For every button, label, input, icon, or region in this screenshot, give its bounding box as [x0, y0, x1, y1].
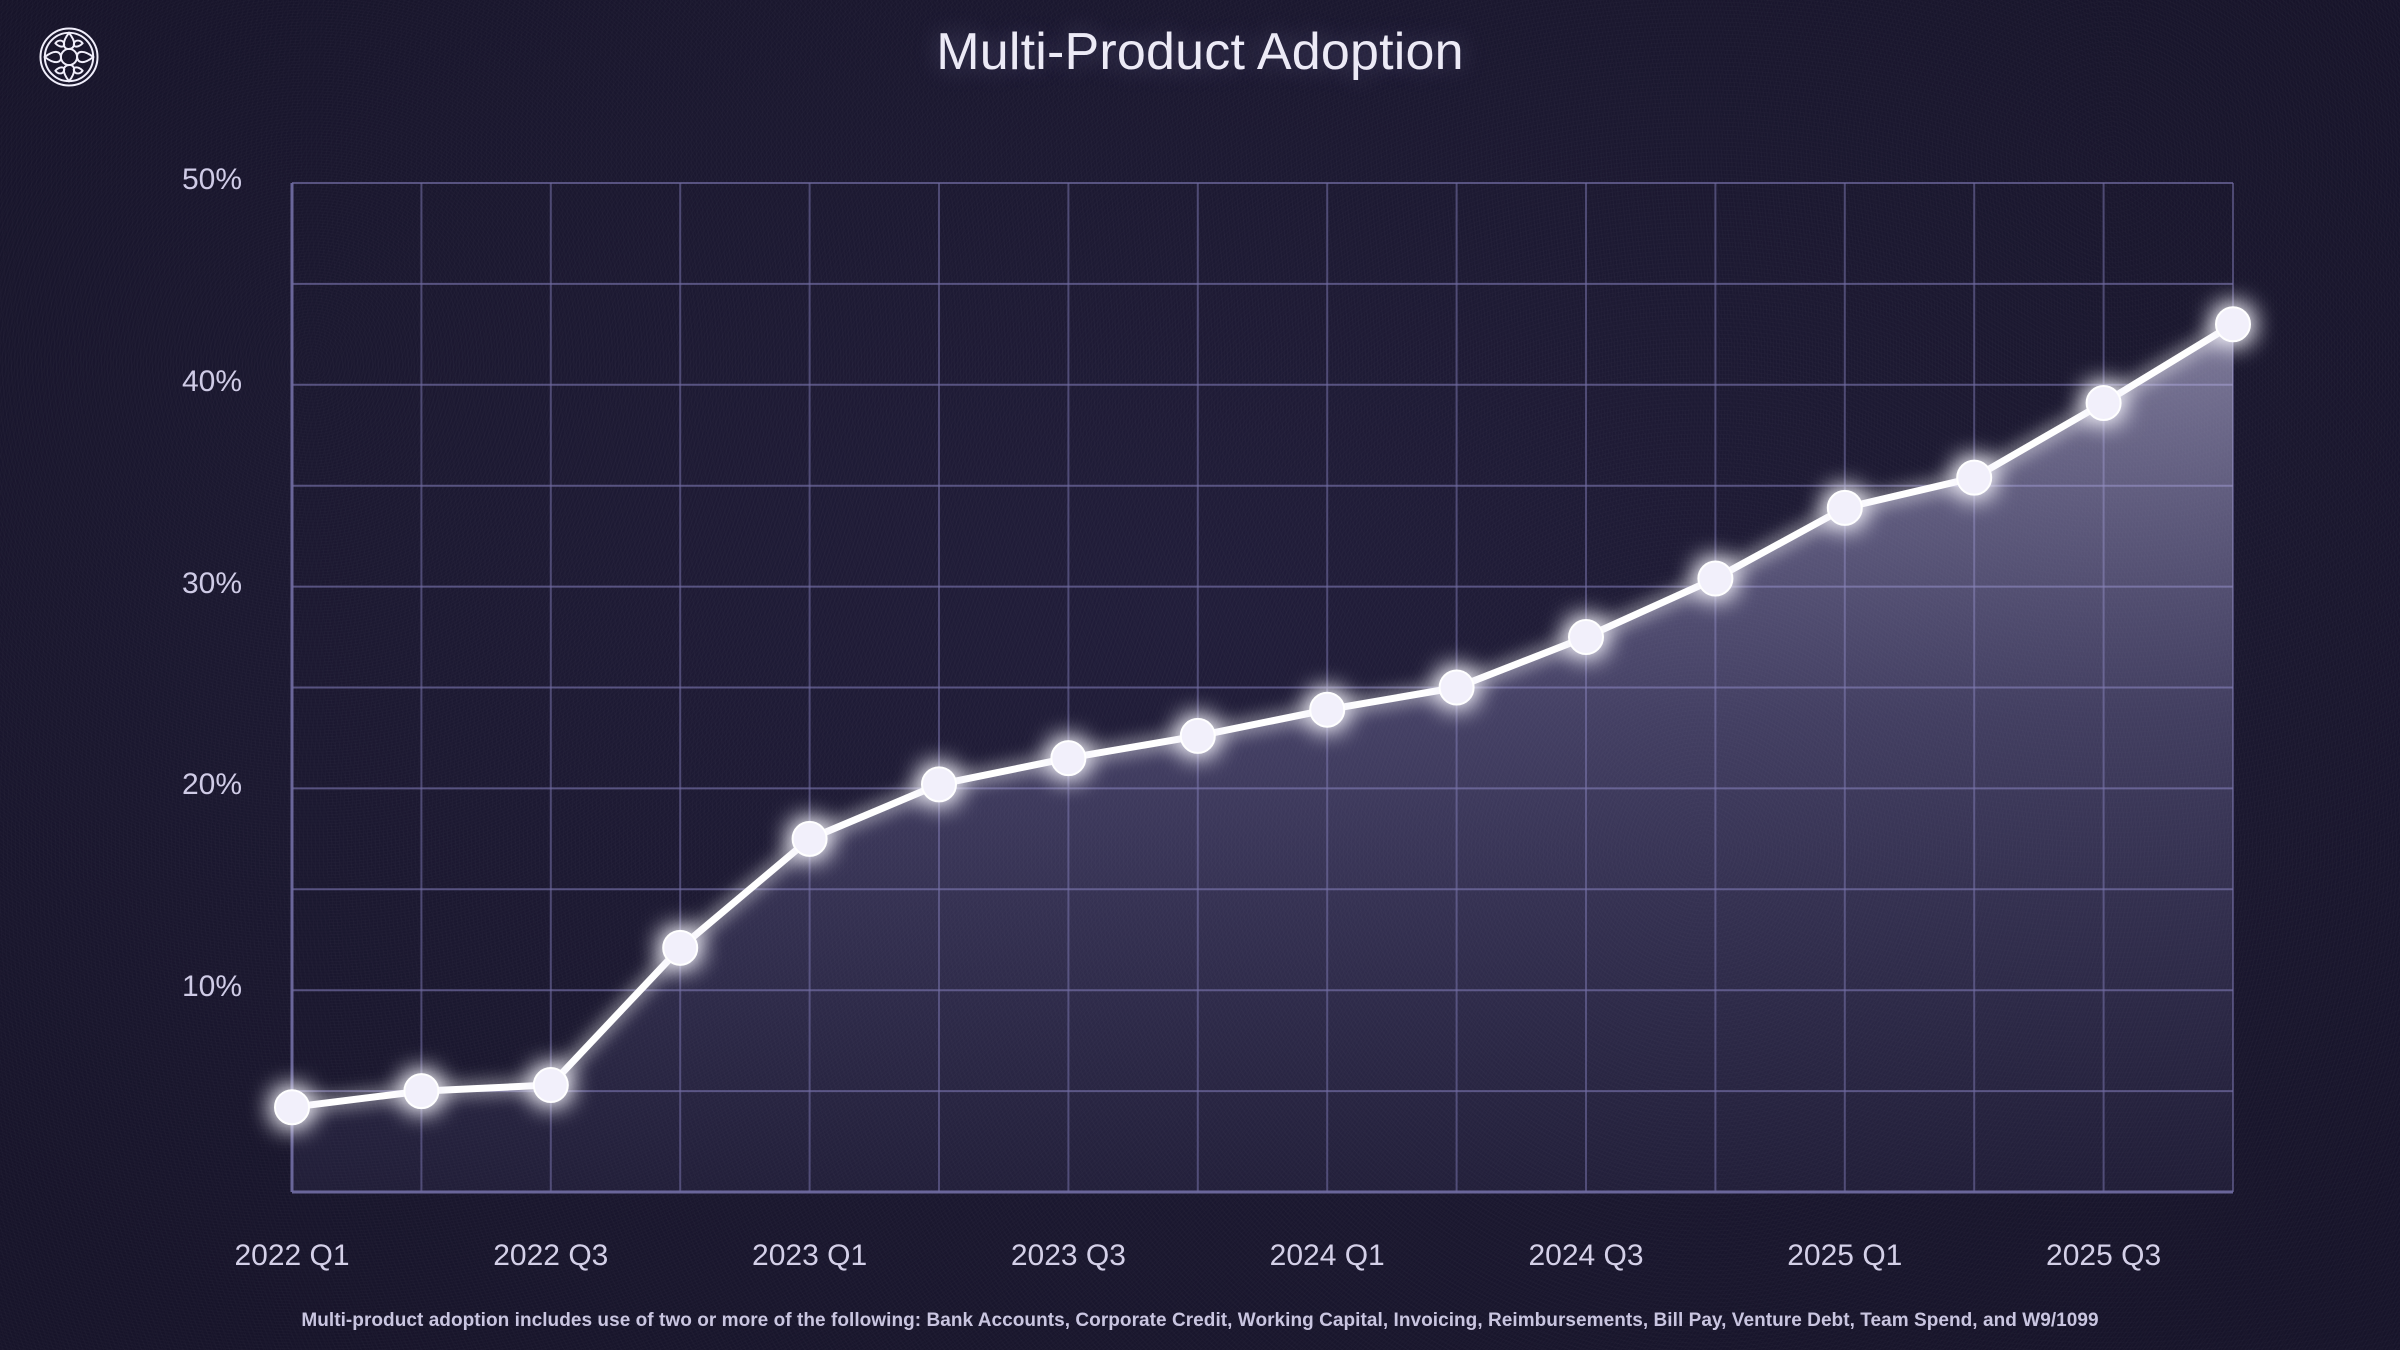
y-axis-tick-label: 50% — [0, 163, 242, 197]
x-axis-tick-label: 2022 Q3 — [493, 1239, 608, 1273]
data-point[interactable] — [1051, 741, 1085, 775]
chart-footnote: Multi-product adoption includes use of t… — [0, 1310, 2400, 1332]
x-axis-tick-label: 2025 Q1 — [1787, 1239, 1902, 1273]
line-chart-svg — [0, 0, 2400, 1350]
x-axis-tick-label: 2025 Q3 — [2046, 1239, 2161, 1273]
y-axis-tick-label: 20% — [0, 768, 242, 802]
data-point[interactable] — [663, 931, 697, 965]
plot-area — [0, 0, 2400, 1350]
data-point[interactable] — [1569, 620, 1603, 654]
x-axis-tick-label: 2022 Q1 — [234, 1239, 349, 1273]
y-axis-tick-label: 10% — [0, 970, 242, 1004]
x-axis-tick-label: 2024 Q1 — [1270, 1239, 1385, 1273]
area-fill — [292, 324, 2233, 1192]
data-point[interactable] — [2087, 386, 2121, 420]
y-axis-tick-label: 40% — [0, 365, 242, 399]
data-point[interactable] — [404, 1074, 438, 1108]
data-point[interactable] — [1181, 719, 1215, 753]
data-point[interactable] — [922, 767, 956, 801]
data-point[interactable] — [1310, 693, 1344, 727]
data-point[interactable] — [1698, 562, 1732, 596]
data-point[interactable] — [1440, 671, 1474, 705]
x-axis-tick-label: 2023 Q1 — [752, 1239, 867, 1273]
x-axis-tick-label: 2024 Q3 — [1528, 1239, 1643, 1273]
data-point[interactable] — [2216, 307, 2250, 341]
data-point[interactable] — [1957, 461, 1991, 495]
data-point[interactable] — [534, 1068, 568, 1102]
data-point[interactable] — [793, 822, 827, 856]
data-point[interactable] — [1828, 491, 1862, 525]
y-axis-tick-label: 30% — [0, 567, 242, 601]
chart-canvas: Multi-Product Adoption 10%20%30%40%50%20… — [0, 0, 2400, 1350]
data-point[interactable] — [275, 1090, 309, 1124]
x-axis-tick-label: 2023 Q3 — [1011, 1239, 1126, 1273]
